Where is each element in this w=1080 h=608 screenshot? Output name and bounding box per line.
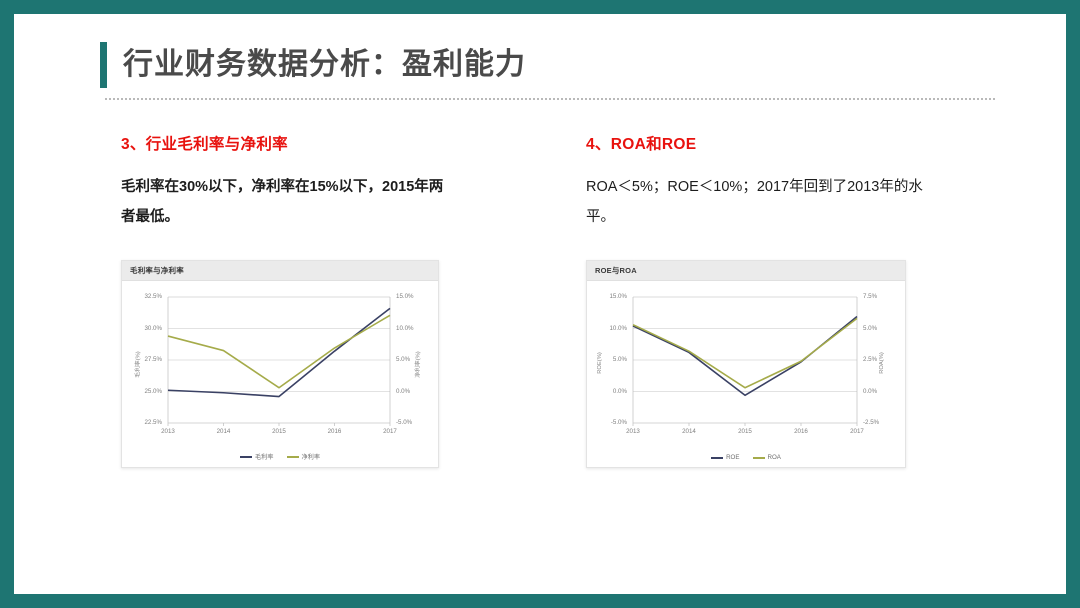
x-axis-category: 2013 — [154, 428, 182, 435]
section-heading-3: 3、行业毛利率与净利率 — [121, 132, 540, 154]
legend-swatch-icon — [753, 457, 765, 459]
chart-card-roe-roa[interactable]: ROE与ROA -5.0%0.0%5.0%10.0%15.0%-2.5%0.0%… — [586, 260, 906, 468]
content-columns: 3、行业毛利率与净利率 毛利率在30%以下，净利率在15%以下，2015年两者最… — [14, 132, 1066, 468]
section-body-4: ROA＜5%；ROE＜10%；2017年回到了2013年的水平。 — [586, 173, 936, 232]
right-axis-tick: 10.0% — [396, 325, 436, 332]
series-line-毛利率 — [168, 309, 390, 397]
x-axis-category: 2014 — [675, 428, 703, 435]
chart-plot-area: 22.5%25.0%27.5%30.0%32.5%-5.0%0.0%5.0%10… — [122, 281, 438, 467]
left-axis-tick: 27.5% — [122, 356, 162, 363]
x-axis-category: 2016 — [321, 428, 349, 435]
right-axis-title: ROA(%) — [879, 353, 885, 375]
left-axis-tick: 15.0% — [587, 293, 627, 300]
legend-item-毛利率[interactable]: 毛利率 — [240, 452, 274, 461]
right-axis-tick: 5.0% — [863, 325, 903, 332]
chart-canvas-1: -5.0%0.0%5.0%10.0%15.0%-2.5%0.0%2.5%5.0%… — [587, 281, 905, 467]
x-axis-category: 2015 — [731, 428, 759, 435]
legend-label: ROE — [726, 454, 739, 461]
chart-canvas-0: 22.5%25.0%27.5%30.0%32.5%-5.0%0.0%5.0%10… — [122, 281, 438, 467]
right-axis-tick: -5.0% — [396, 419, 436, 426]
title-divider — [105, 98, 995, 100]
section-heading-4: 4、ROA和ROE — [586, 132, 1066, 154]
legend-swatch-icon — [287, 456, 299, 458]
section-body-3: 毛利率在30%以下，净利率在15%以下，2015年两者最低。 — [121, 173, 451, 232]
page-title: 行业财务数据分析：盈利能力 — [123, 50, 526, 80]
right-axis-tick: 15.0% — [396, 293, 436, 300]
x-axis-category: 2016 — [787, 428, 815, 435]
x-axis-category: 2014 — [210, 428, 238, 435]
chart-card-header: ROE与ROA — [587, 261, 905, 281]
slide-canvas: 行业财务数据分析：盈利能力 3、行业毛利率与净利率 毛利率在30%以下，净利率在… — [14, 14, 1066, 594]
legend-swatch-icon — [711, 457, 723, 459]
right-axis-tick: 7.5% — [863, 293, 903, 300]
left-axis-tick: 10.0% — [587, 325, 627, 332]
legend-item-ROE[interactable]: ROE — [711, 454, 739, 461]
legend-label: ROA — [768, 454, 781, 461]
x-axis-category: 2017 — [843, 428, 871, 435]
left-axis-title: 毛利率(%) — [133, 352, 142, 378]
slide-frame: 行业财务数据分析：盈利能力 3、行业毛利率与净利率 毛利率在30%以下，净利率在… — [0, 0, 1080, 608]
left-axis-tick: 22.5% — [122, 419, 162, 426]
right-axis-tick: 0.0% — [863, 388, 903, 395]
column-roa-roe: 4、ROA和ROE ROA＜5%；ROE＜10%；2017年回到了2013年的水… — [540, 132, 1066, 468]
x-axis-category: 2015 — [265, 428, 293, 435]
chart-legend: 毛利率净利率 — [122, 452, 438, 461]
right-axis-title: 净利率(%) — [413, 352, 422, 378]
left-axis-tick: 25.0% — [122, 388, 162, 395]
left-axis-tick: 30.0% — [122, 325, 162, 332]
legend-swatch-icon — [240, 456, 252, 458]
title-accent-bar — [100, 42, 107, 88]
legend-item-净利率[interactable]: 净利率 — [287, 452, 321, 461]
left-axis-tick: 5.0% — [587, 356, 627, 363]
left-axis-tick: 32.5% — [122, 293, 162, 300]
left-axis-tick: -5.0% — [587, 419, 627, 426]
right-axis-tick: 0.0% — [396, 388, 436, 395]
slide-header: 行业财务数据分析：盈利能力 — [100, 42, 526, 88]
x-axis-category: 2017 — [376, 428, 404, 435]
left-axis-title: ROE(%) — [597, 353, 603, 375]
chart-plot-area: -5.0%0.0%5.0%10.0%15.0%-2.5%0.0%2.5%5.0%… — [587, 281, 905, 467]
legend-item-ROA[interactable]: ROA — [753, 454, 781, 461]
x-axis-category: 2013 — [619, 428, 647, 435]
chart-card-gross-net-margin[interactable]: 毛利率与净利率 22.5%25.0%27.5%30.0%32.5%-5.0%0.… — [121, 260, 439, 468]
chart-svg-0 — [122, 281, 438, 467]
column-gross-net-margin: 3、行业毛利率与净利率 毛利率在30%以下，净利率在15%以下，2015年两者最… — [14, 132, 540, 468]
legend-label: 净利率 — [302, 452, 321, 461]
legend-label: 毛利率 — [255, 452, 274, 461]
right-axis-tick: -2.5% — [863, 419, 903, 426]
chart-legend: ROEROA — [587, 454, 905, 461]
left-axis-tick: 0.0% — [587, 388, 627, 395]
chart-card-header: 毛利率与净利率 — [122, 261, 438, 281]
chart-card-title: 毛利率与净利率 — [130, 265, 184, 276]
chart-svg-1 — [587, 281, 905, 467]
series-line-净利率 — [168, 316, 390, 388]
chart-card-title: ROE与ROA — [595, 265, 637, 276]
